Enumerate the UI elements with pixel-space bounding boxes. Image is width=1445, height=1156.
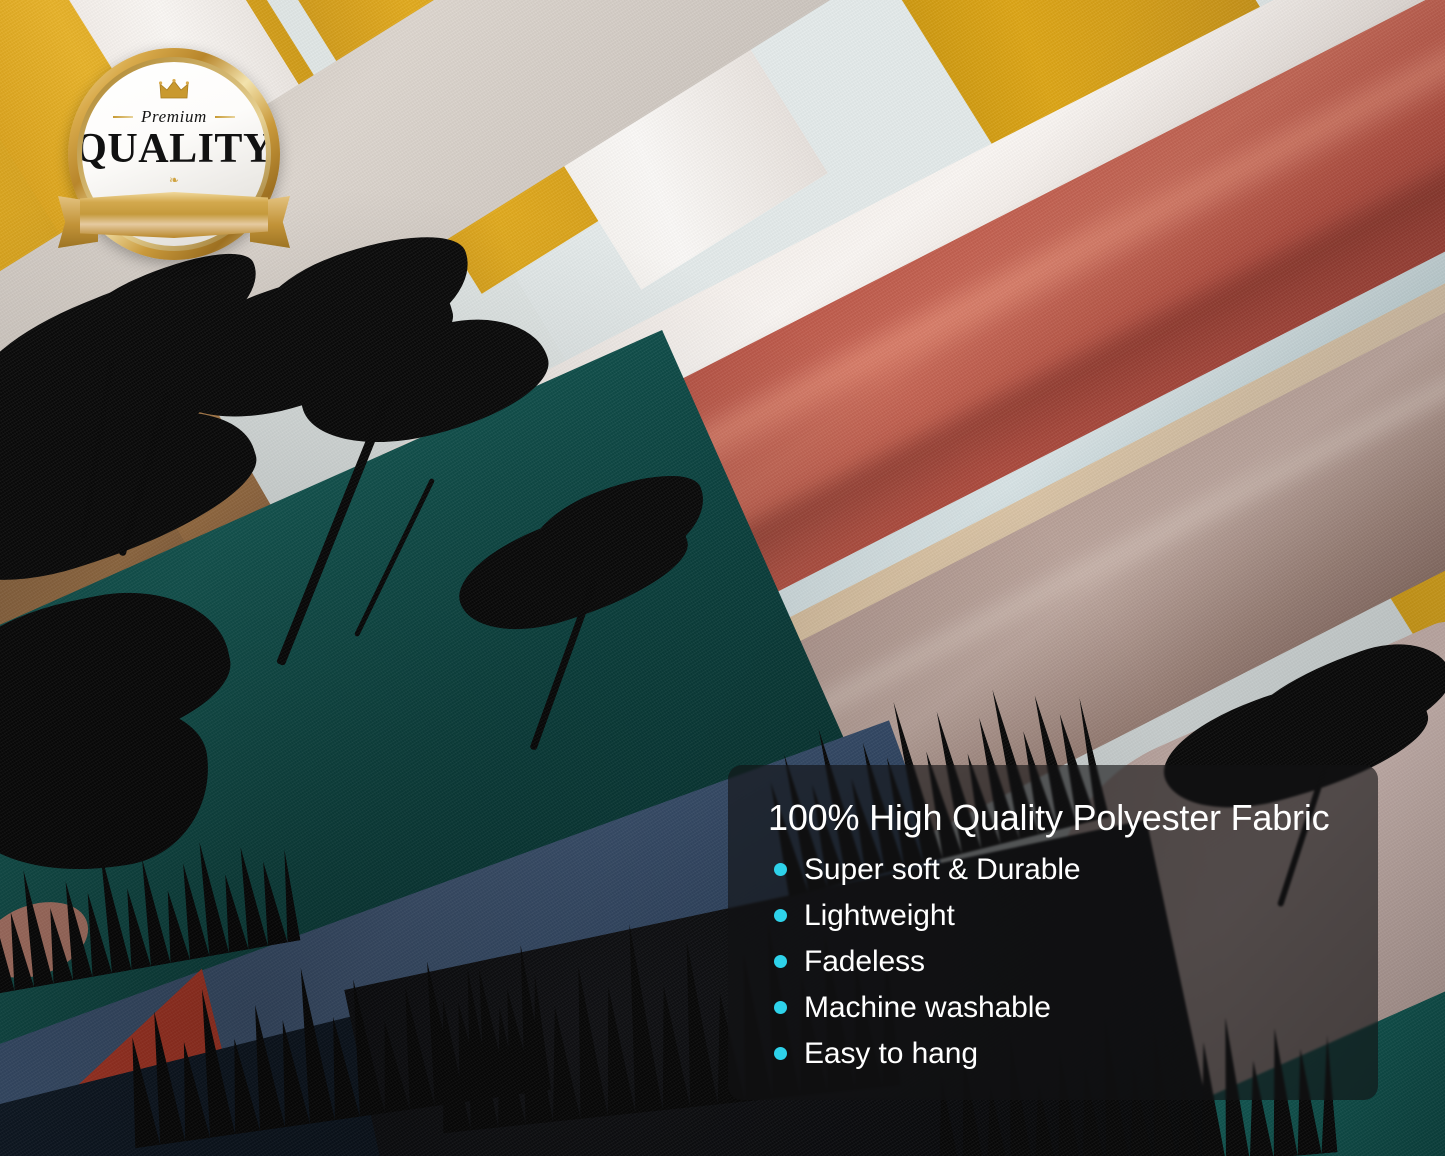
badge-rule-left (113, 116, 133, 118)
product-feature-image: Premium QUALITY ❧ 100% High Quality Poly… (0, 0, 1445, 1156)
bullet-icon (774, 1001, 787, 1014)
premium-quality-badge: Premium QUALITY ❧ (68, 48, 280, 260)
feature-list: Super soft & Durable Lightweight Fadeles… (768, 847, 1352, 1077)
badge-premium-line: Premium (113, 107, 235, 127)
bullet-icon (774, 1047, 787, 1060)
feature-list-item: Lightweight (774, 893, 1352, 939)
feature-panel: 100% High Quality Polyester Fabric Super… (728, 765, 1378, 1100)
feature-label: Fadeless (804, 947, 925, 977)
feature-list-item: Super soft & Durable (774, 847, 1352, 893)
bullet-icon (774, 909, 787, 922)
crown-icon (159, 79, 189, 101)
badge-ribbon (58, 180, 290, 254)
feature-panel-title: 100% High Quality Polyester Fabric (768, 799, 1352, 837)
feature-list-item: Machine washable (774, 985, 1352, 1031)
feature-list-item: Fadeless (774, 939, 1352, 985)
feature-label: Machine washable (804, 993, 1051, 1023)
feature-label: Easy to hang (804, 1039, 978, 1069)
badge-rule-right (215, 116, 235, 118)
badge-quality-label: QUALITY (82, 128, 266, 170)
feature-label: Super soft & Durable (804, 855, 1080, 885)
feature-label: Lightweight (804, 901, 955, 931)
badge-premium-label: Premium (141, 107, 207, 127)
bullet-icon (774, 863, 787, 876)
feature-list-item: Easy to hang (774, 1031, 1352, 1077)
bullet-icon (774, 955, 787, 968)
badge-ribbon-banner (80, 192, 268, 238)
